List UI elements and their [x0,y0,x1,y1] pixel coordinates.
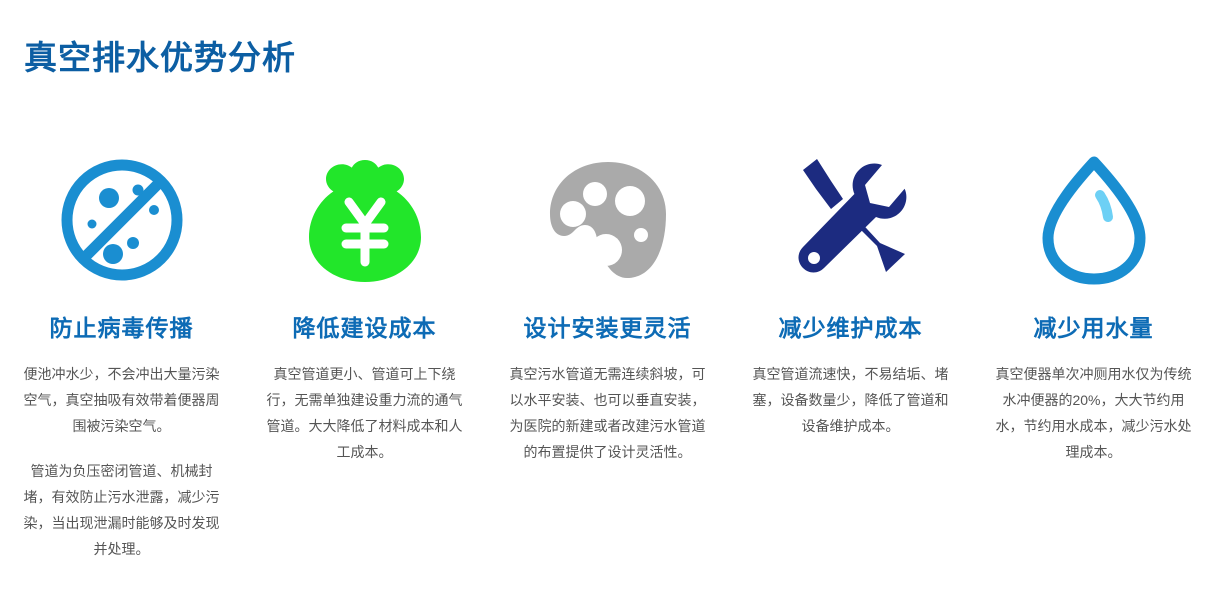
feature-item-lower-maintenance-cost: 减少维护成本 真空管道流速快，不易结垢、堵塞，设备数量少，降低了管道和设备维护成… [729,150,972,439]
feature-item-reduce-water-usage: 减少用水量 真空便器单次冲厕用水仅为传统水冲便器的20%，大大节约用水，节约用水… [972,150,1215,465]
tools-wrench-screwdriver-icon [776,150,926,290]
feature-paragraph: 真空污水管道无需连续斜坡，可以水平安装、也可以垂直安装，为医院的新建或者改建污水… [505,361,710,465]
page-title: 真空排水优势分析 [24,36,296,80]
feature-heading: 减少用水量 [1034,312,1154,344]
feature-list: 防止病毒传播 便池冲水少，不会冲出大量污染空气，真空抽吸有效带着便器周围被污染空… [0,150,1215,562]
feature-heading: 设计安装更灵活 [524,312,692,344]
feature-heading: 防止病毒传播 [50,312,194,344]
feature-heading: 减少维护成本 [779,312,923,344]
feature-paragraph: 真空管道更小、管道可上下绕行，无需单独建设重力流的通气管道。大大降低了材料成本和… [262,361,467,465]
feature-paragraph: 真空便器单次冲厕用水仅为传统水冲便器的20%，大大节约用水，节约用水成本，减少污… [991,361,1196,465]
feature-body: 便池冲水少，不会冲出大量污染空气，真空抽吸有效带着便器周围被污染空气。 管道为负… [19,361,224,562]
feature-paragraph: 管道为负压密闭管道、机械封堵，有效防止污水泄露，减少污染，当出现泄漏时能够及时发… [19,458,224,562]
feature-heading: 降低建设成本 [293,312,437,344]
water-drop-icon [1019,150,1169,290]
feature-body: 真空管道流速快，不易结垢、堵塞，设备数量少，降低了管道和设备维护成本。 [748,361,953,439]
feature-body: 真空污水管道无需连续斜坡，可以水平安装、也可以垂直安装，为医院的新建或者改建污水… [505,361,710,465]
feature-item-flexible-design: 设计安装更灵活 真空污水管道无需连续斜坡，可以水平安装、也可以垂直安装，为医院的… [486,150,729,465]
feature-item-lower-construction-cost: 降低建设成本 真空管道更小、管道可上下绕行，无需单独建设重力流的通气管道。大大降… [243,150,486,465]
feature-body: 真空管道更小、管道可上下绕行，无需单独建设重力流的通气管道。大大降低了材料成本和… [262,361,467,465]
feature-item-prevent-virus: 防止病毒传播 便池冲水少，不会冲出大量污染空气，真空抽吸有效带着便器周围被污染空… [0,150,243,562]
money-bag-icon [290,150,440,290]
palette-icon [533,150,683,290]
feature-paragraph: 真空管道流速快，不易结垢、堵塞，设备数量少，降低了管道和设备维护成本。 [748,361,953,439]
no-virus-icon [47,150,197,290]
feature-body: 真空便器单次冲厕用水仅为传统水冲便器的20%，大大节约用水，节约用水成本，减少污… [991,361,1196,465]
feature-paragraph: 便池冲水少，不会冲出大量污染空气，真空抽吸有效带着便器周围被污染空气。 [19,361,224,439]
